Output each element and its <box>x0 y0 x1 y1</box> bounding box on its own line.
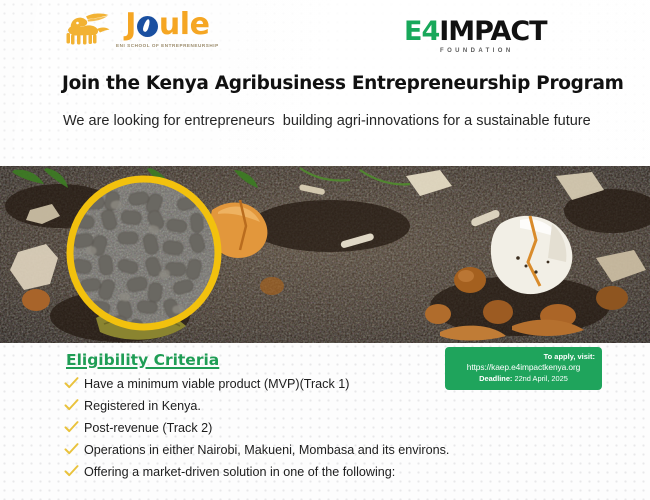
list-item-label: Post-revenue (Track 2) <box>84 421 212 435</box>
apply-deadline-label: Deadline: <box>479 374 512 383</box>
joule-flame-o-icon <box>137 16 158 37</box>
header-section: J ule ENI SCHOOL OF ENTREPRENEURSHIP E4I… <box>0 0 650 166</box>
list-item: Registered in Kenya. <box>64 398 534 413</box>
e4impact-main: IMPACT <box>439 16 546 47</box>
check-icon <box>64 399 79 411</box>
e4impact-wordmark: E4IMPACT <box>404 18 547 45</box>
joule-word: J ule <box>125 10 209 40</box>
joule-wordmark: J ule ENI SCHOOL OF ENTREPRENEURSHIP <box>116 10 219 48</box>
list-item-label: Offering a market-driven solution in one… <box>84 465 395 479</box>
apply-deadline: Deadline: 22nd April, 2025 <box>452 374 595 384</box>
apply-callout[interactable]: To apply, visit: https://kaep.e4impactke… <box>445 347 602 390</box>
check-icon <box>64 443 79 455</box>
joule-tagline: ENI SCHOOL OF ENTREPRENEURSHIP <box>116 43 219 48</box>
page-subtitle: We are looking for entrepreneurs buildin… <box>63 111 593 131</box>
eni-six-legged-dog-icon <box>60 12 112 46</box>
list-item-label: Registered in Kenya. <box>84 399 201 413</box>
flyer-canvas: J ule ENI SCHOOL OF ENTREPRENEURSHIP E4I… <box>0 0 650 500</box>
compost-photo <box>0 166 650 343</box>
list-item: Post-revenue (Track 2) <box>64 420 534 435</box>
apply-deadline-value: 22nd April, 2025 <box>514 374 567 383</box>
compost-photo-illustration <box>0 166 650 343</box>
check-icon <box>64 377 79 389</box>
list-item-label: Have a minimum viable product (MVP)(Trac… <box>84 377 349 391</box>
logo-row: J ule ENI SCHOOL OF ENTREPRENEURSHIP E4I… <box>0 0 650 62</box>
dog-eye-icon <box>76 22 79 25</box>
list-item: Operations in either Nairobi, Makueni, M… <box>64 442 534 457</box>
list-item: Offering a market-driven solution in one… <box>64 464 534 479</box>
list-item-label: Operations in either Nairobi, Makueni, M… <box>84 443 449 457</box>
joule-logo: J ule ENI SCHOOL OF ENTREPRENEURSHIP <box>60 10 219 48</box>
e4impact-tagline: FOUNDATION <box>440 48 514 54</box>
apply-label: To apply, visit: <box>452 352 595 361</box>
e4impact-prefix: E4 <box>404 16 439 47</box>
page-title: Join the Kenya Agribusiness Entrepreneur… <box>62 73 624 94</box>
check-icon <box>64 421 79 433</box>
e4impact-logo: E4IMPACT FOUNDATION <box>404 18 547 54</box>
eligibility-list: Have a minimum viable product (MVP)(Trac… <box>64 376 534 486</box>
joule-letter-j: J <box>125 10 136 40</box>
apply-url-link[interactable]: https://kaep.e4impactkenya.org <box>452 362 595 373</box>
eligibility-title: Eligibility Criteria <box>66 351 219 369</box>
joule-letters-ule: ule <box>159 10 210 40</box>
check-icon <box>64 465 79 477</box>
